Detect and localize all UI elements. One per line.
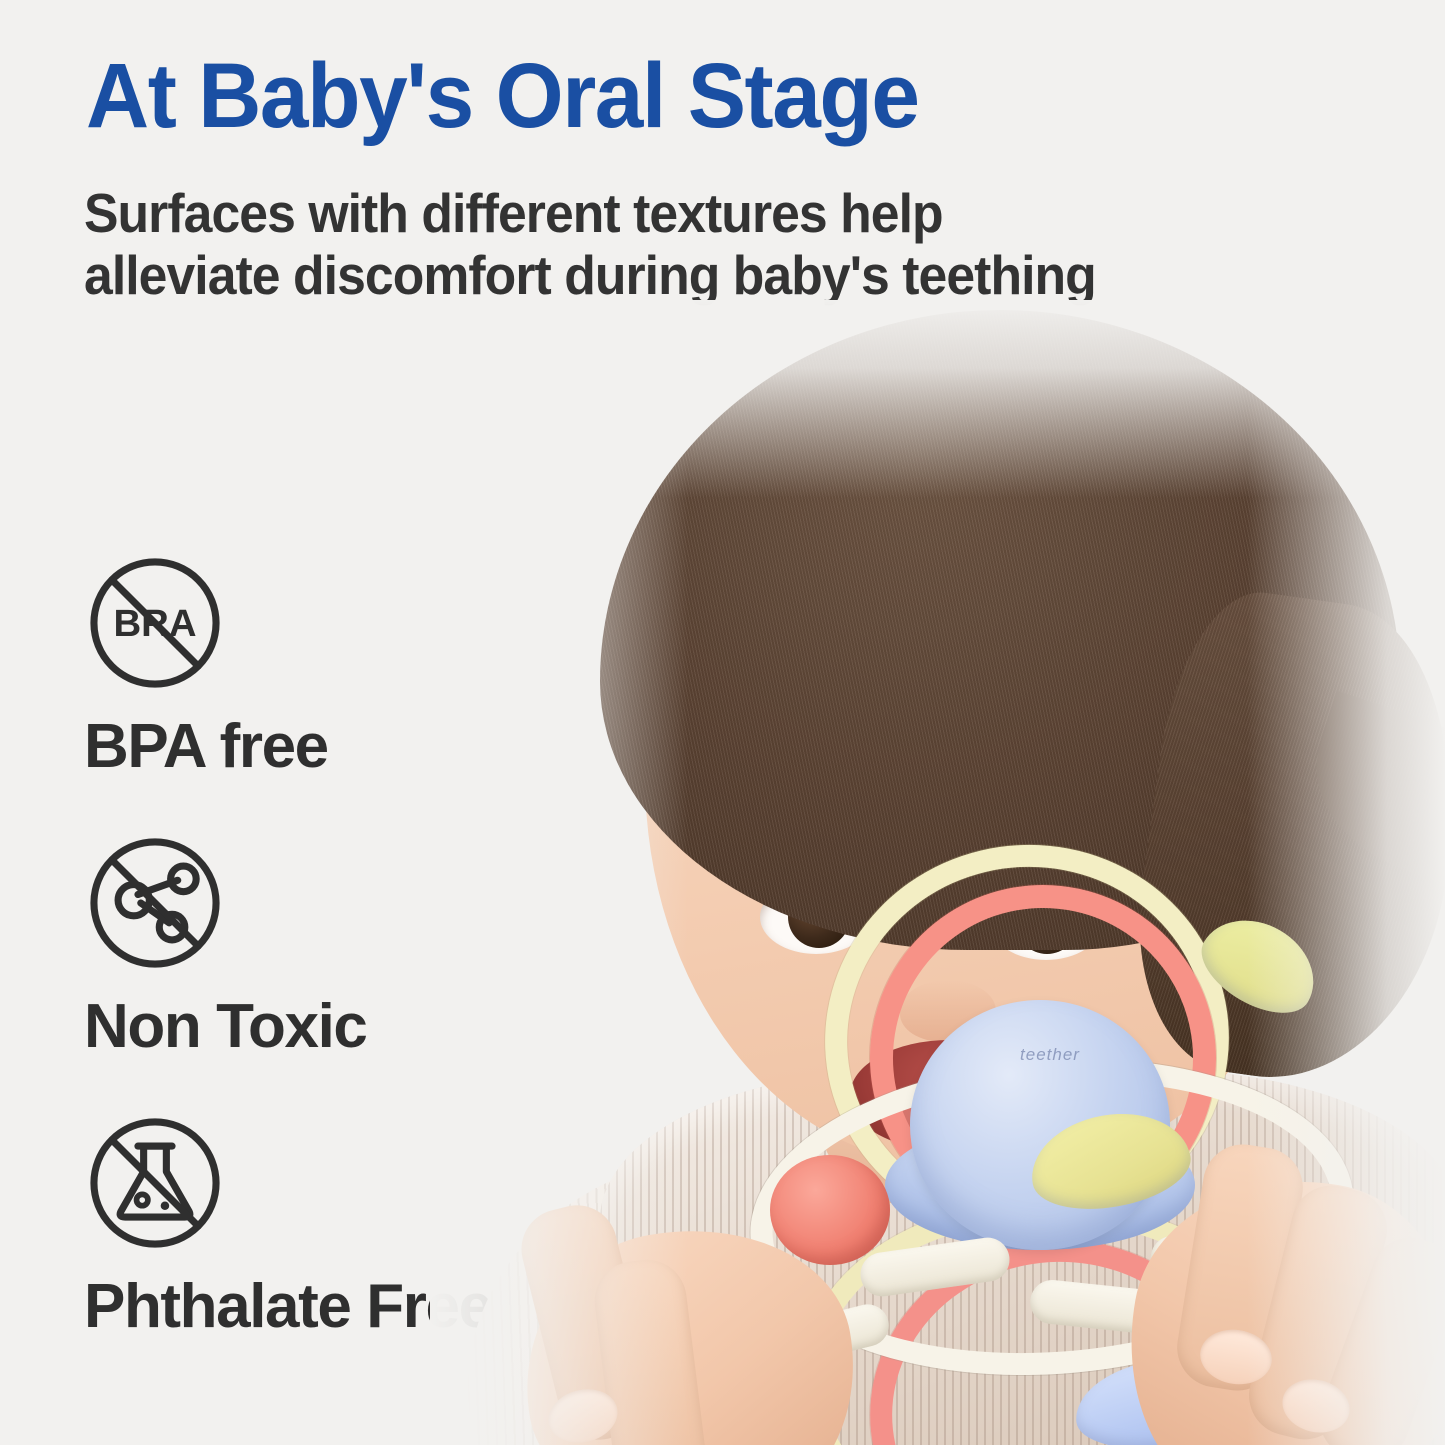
page-subtitle: Surfaces with different textures help al… (84, 182, 1306, 306)
no-toxic-molecule-icon (84, 832, 226, 974)
infographic-poster: At Baby's Oral Stage Surfaces with diffe… (0, 0, 1445, 1445)
page-subtitle-line-1: Surfaces with different textures help (84, 182, 1306, 244)
page-subtitle-line-2: alleviate discomfort during baby's teeth… (84, 244, 1306, 306)
teether-brand-mark: teether (975, 1045, 1125, 1065)
baby-with-teether-photo: teether (430, 300, 1445, 1445)
feature-label-non-toxic: Non Toxic (84, 992, 366, 1062)
teether-bead-coral (770, 1155, 890, 1265)
no-bpa-icon-text: BRA (113, 602, 196, 645)
no-bpa-icon: BRA (84, 552, 226, 694)
feature-label-bpa-free: BPA free (84, 712, 328, 782)
page-title: At Baby's Oral Stage (86, 44, 919, 148)
no-phthalate-flask-icon (84, 1112, 226, 1254)
photo-edge-fade-right (1247, 300, 1445, 1445)
